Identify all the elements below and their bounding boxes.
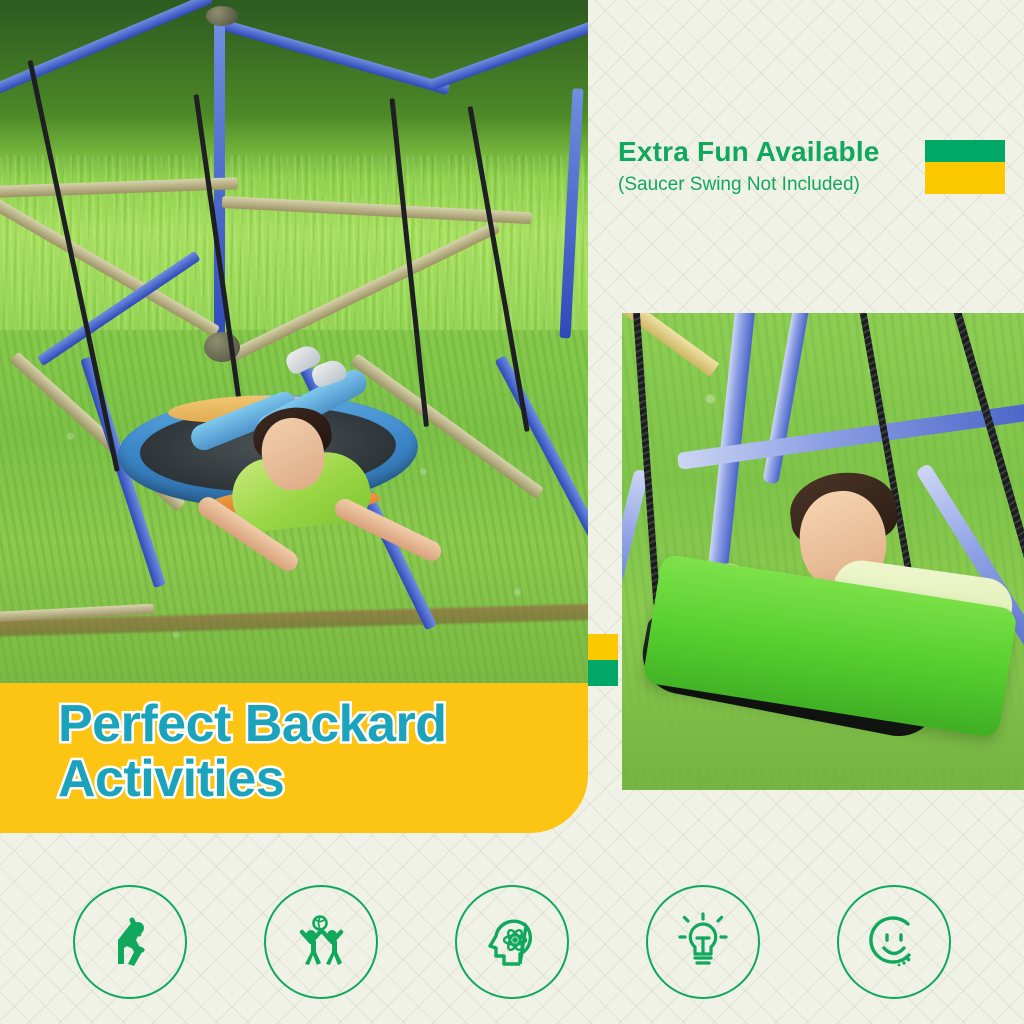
feature-icon-head-atom (455, 885, 569, 999)
banner-title: Perfect Backard Activities (58, 697, 578, 807)
secondary-product-photo (622, 313, 1024, 790)
product-feature-graphic: Extra Fun Available (Saucer Swing Not In… (0, 0, 1024, 1024)
feature-icon-row (0, 872, 1024, 1012)
green-yellow-flag-mark (925, 140, 1005, 194)
flag-mark-green-band (925, 140, 1005, 162)
feature-icon-stretching-person (73, 885, 187, 999)
kids-playing-ball-icon (289, 910, 353, 974)
smiley-face-icon (862, 910, 926, 974)
dome-top-hub (206, 6, 238, 26)
yellow-green-accent-block (588, 634, 618, 686)
flag-mark-yellow-band (925, 162, 1005, 194)
accent-block-green-band (588, 660, 618, 686)
feature-icon-smiley-face (837, 885, 951, 999)
main-product-photo (0, 0, 588, 684)
banner-title-line-1: Perfect Backard (58, 697, 578, 752)
head-atom-icon (480, 910, 544, 974)
accent-block-yellow-band (588, 634, 618, 660)
feature-icon-kids-playing-ball (264, 885, 378, 999)
headline-banner: Perfect Backard Activities (0, 683, 588, 833)
banner-title-line-2: Activities (58, 752, 578, 807)
feature-icon-lightbulb (646, 885, 760, 999)
stretching-person-icon (98, 910, 162, 974)
lightbulb-icon (671, 910, 735, 974)
